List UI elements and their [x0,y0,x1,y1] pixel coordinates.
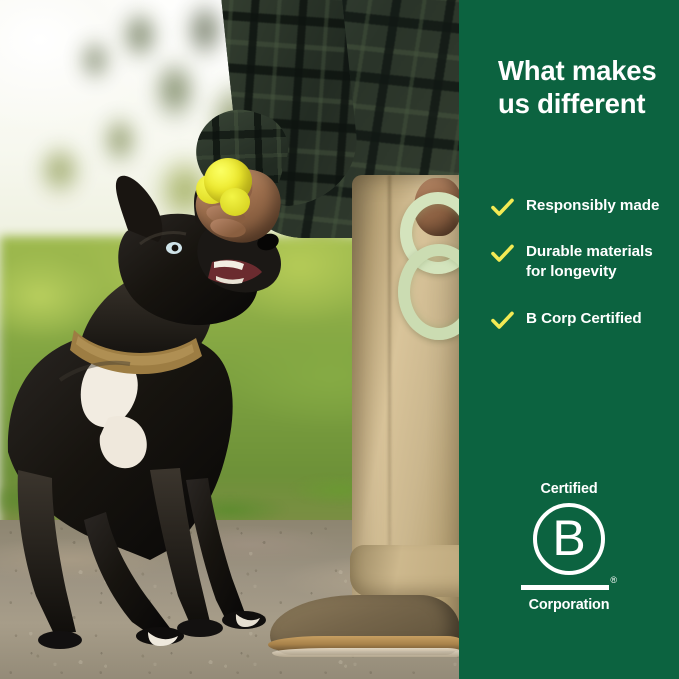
feature-list-item: B Corp Certified [491,309,676,329]
bcorp-letter-b: B [552,513,585,563]
feature-panel: What makes us different Responsibly made… [459,0,679,679]
check-icon [491,243,514,263]
check-icon [491,197,514,217]
bcorp-divider-rule [521,585,609,590]
bcorp-logo: Certified B ® Corporation [459,482,679,613]
check-icon [491,310,514,330]
bcorp-circle-mark: B [533,503,605,575]
feature-list-item-label: B Corp Certified [526,310,642,327]
feature-list-item-label: Durable materials for longevity [526,243,653,280]
feature-list-item: Responsibly made [491,196,676,216]
boot-welt [272,648,459,657]
product-feature-image: What makes us different Responsibly made… [0,0,679,679]
feature-list-item-label: Responsibly made [526,197,659,214]
bcorp-corporation-text: Corporation [529,598,610,612]
bcorp-rule-group: ® [521,585,617,590]
pant-cuff [350,545,459,597]
figure-eight-tug-toy [398,192,459,324]
panel-heading: What makes us different [498,54,673,120]
ball-lobe [220,188,250,216]
registered-trademark-icon: ® [610,576,617,585]
feature-list-item: Durable materials for longevity [491,242,676,282]
lifestyle-photo [0,0,459,679]
feature-list: Responsibly made Durable materials for l… [491,196,676,329]
bcorp-certified-text: Certified [540,482,597,496]
